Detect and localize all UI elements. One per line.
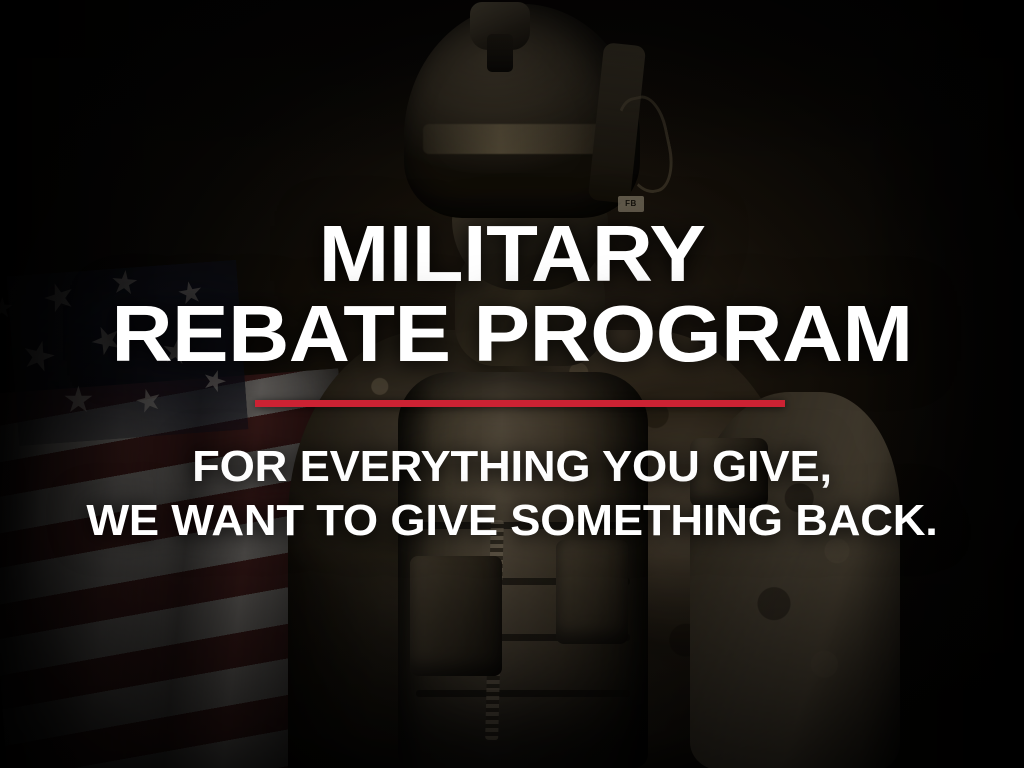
military-rebate-poster: FB MILITARY REBATE PROGRAM FOR EVERYTHIN… bbox=[0, 0, 1024, 768]
subheadline-line-1: FOR EVERYTHING YOU GIVE, bbox=[0, 443, 1024, 491]
text-overlay: MILITARY REBATE PROGRAM FOR EVERYTHING Y… bbox=[0, 0, 1024, 768]
red-divider-rule bbox=[255, 400, 785, 407]
headline-line-2: REBATE PROGRAM bbox=[0, 296, 1024, 371]
headline-line-1: MILITARY bbox=[0, 216, 1024, 291]
subheadline-line-2: WE WANT TO GIVE SOMETHING BACK. bbox=[0, 497, 1024, 545]
